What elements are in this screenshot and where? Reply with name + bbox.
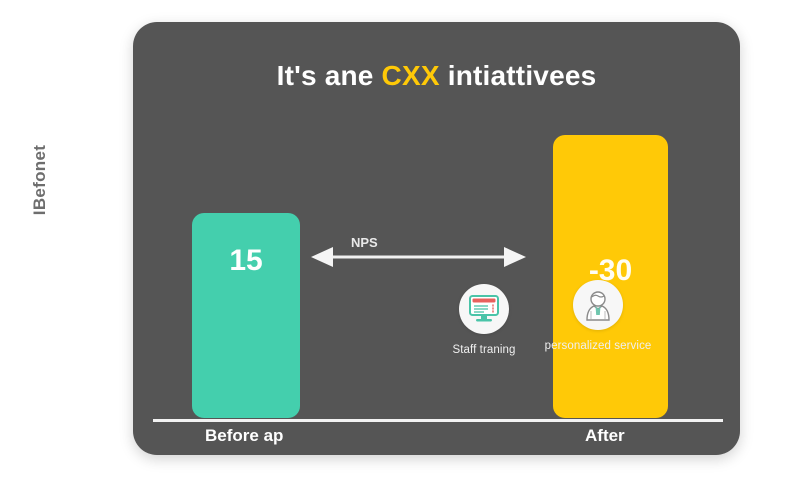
chart-baseline	[153, 419, 723, 422]
initiative-personalized-service-caption: personalized service	[533, 340, 663, 352]
double-headed-arrow-icon	[311, 244, 526, 270]
bar-before-value: 15	[229, 246, 262, 276]
initiative-staff-training: Staff traning	[419, 284, 549, 356]
initiative-personalized-service: personalized service	[533, 280, 663, 352]
chart-title-accent: CXX	[382, 60, 440, 91]
person-icon	[573, 280, 623, 330]
category-label-before: Before ap	[205, 426, 283, 446]
bar-before: 15	[192, 213, 300, 418]
monitor-icon	[459, 284, 509, 334]
chart-panel: It's ane CXX intiattivees 15 -30 NPS	[133, 22, 740, 455]
chart-title-suffix: intiattivees	[440, 60, 597, 91]
chart-title: It's ane CXX intiattivees	[133, 60, 740, 92]
y-axis-label: IBefonet	[30, 100, 60, 260]
initiative-staff-training-caption: Staff traning	[419, 344, 549, 356]
chart-canvas: IBefonet It's ane CXX intiattivees 15 -3…	[0, 0, 800, 480]
category-label-after: After	[585, 426, 625, 446]
chart-title-prefix: It's ane	[277, 60, 382, 91]
bar-after: -30	[553, 135, 668, 418]
nps-arrow-label: NPS	[351, 235, 378, 250]
